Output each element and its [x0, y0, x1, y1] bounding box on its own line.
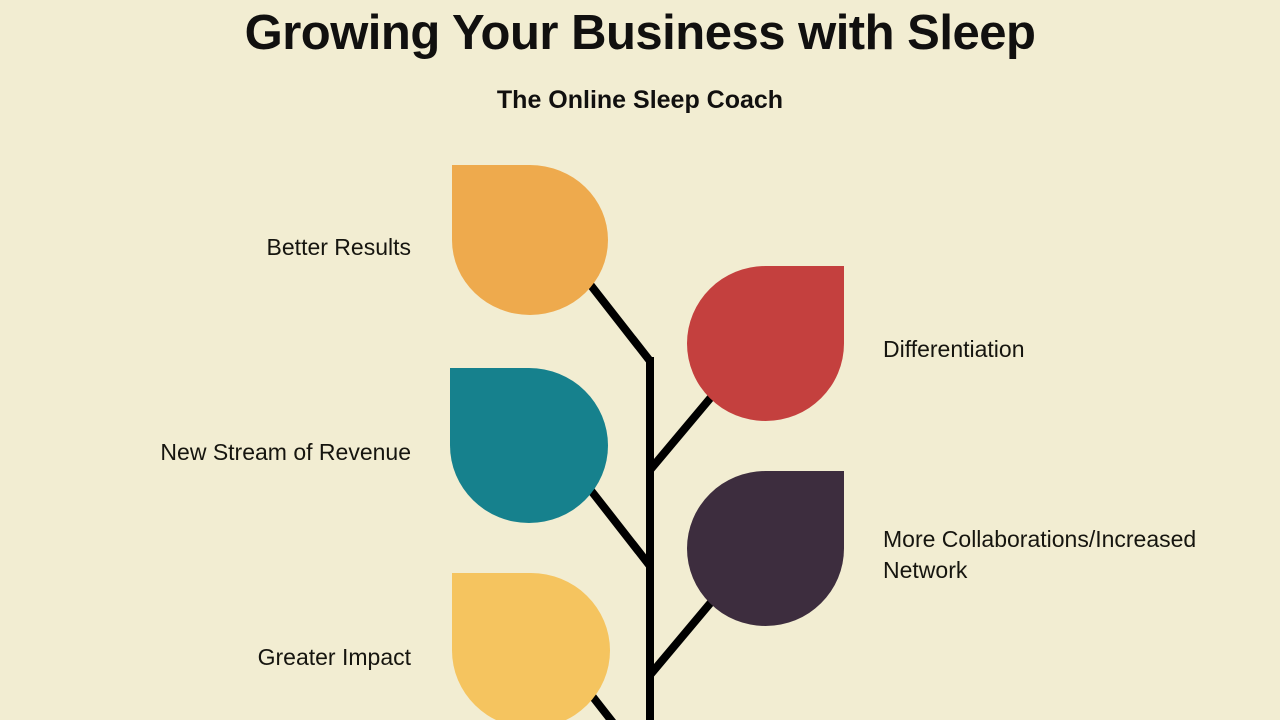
branch-line-1 [585, 279, 653, 364]
leaf-better-results[interactable] [452, 165, 608, 315]
infographic-canvas: Growing Your Business with Sleep The Onl… [0, 0, 1280, 720]
branch-line-3 [585, 484, 653, 569]
leaf-more-collaborations[interactable] [687, 471, 844, 626]
branch-line-4 [647, 599, 715, 678]
label-greater-impact: Greater Impact [161, 642, 411, 673]
label-better-results: Better Results [91, 232, 411, 263]
label-differentiation: Differentiation [883, 334, 1243, 365]
branch-line-2 [647, 394, 715, 473]
leaf-greater-impact[interactable] [452, 573, 610, 720]
label-more-collaborations: More Collaborations/Increased Network [883, 524, 1235, 586]
leaf-new-stream-of-revenue[interactable] [450, 368, 608, 523]
label-new-stream-of-revenue: New Stream of Revenue [61, 437, 411, 468]
tree-trunk [646, 357, 654, 720]
page-subtitle: The Online Sleep Coach [0, 84, 1280, 116]
leaf-differentiation[interactable] [687, 266, 844, 421]
page-title: Growing Your Business with Sleep [0, 4, 1280, 62]
